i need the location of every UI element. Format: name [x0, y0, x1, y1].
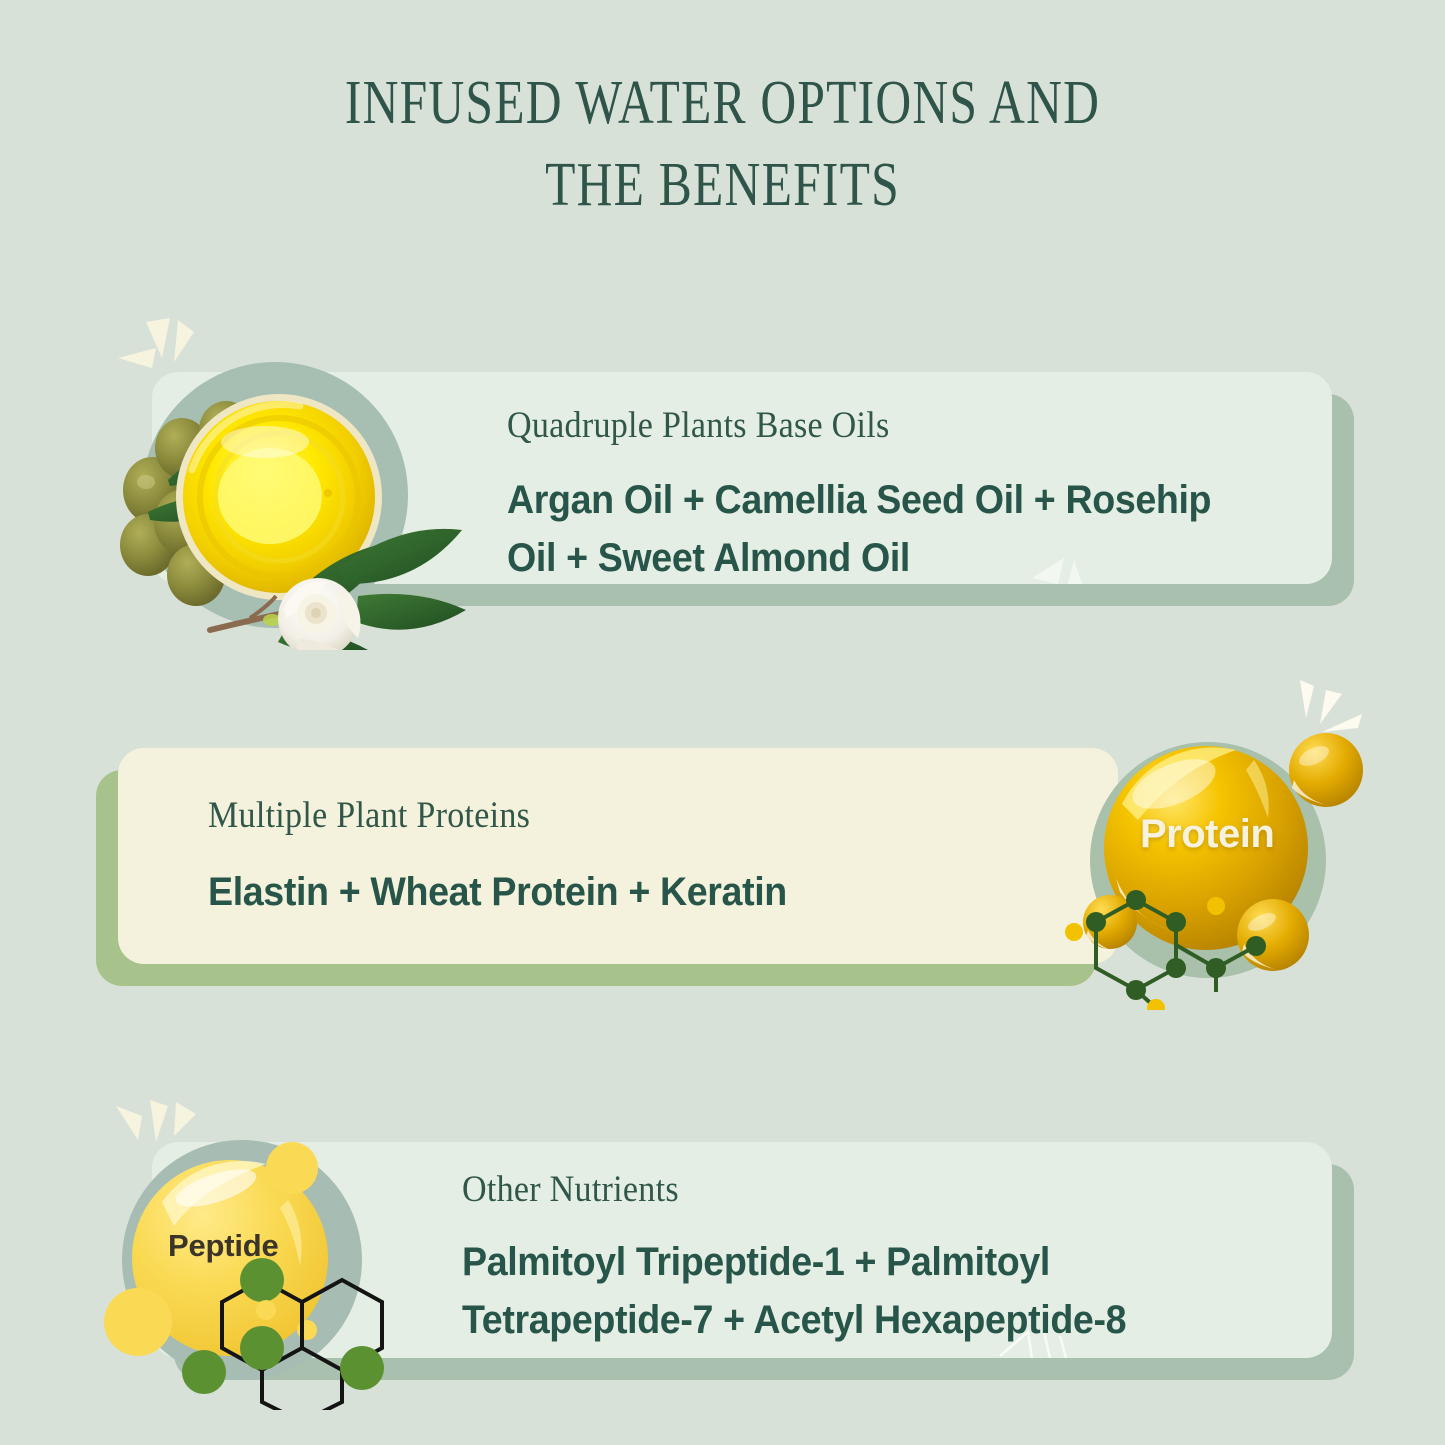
- card-body: Other Nutrients Palmitoyl Tripeptide-1 +…: [462, 1168, 1322, 1349]
- sparkle-decoration-protein: [1284, 672, 1384, 753]
- page-title-line-2: THE BENEFITS: [145, 144, 1301, 226]
- infographic-canvas: INFUSED WATER OPTIONS AND THE BENEFITS Q…: [0, 0, 1445, 1445]
- card2-kicker: Multiple Plant Proteins: [208, 794, 999, 837]
- protein-droplet-label: Protein: [1140, 812, 1274, 857]
- benefit-card-plant-proteins: Multiple Plant Proteins Elastin + Wheat …: [118, 748, 1118, 964]
- card3-kicker: Other Nutrients: [462, 1168, 1253, 1211]
- card1-headline: Argan Oil + Camellia Seed Oil + Rosehip …: [507, 471, 1259, 587]
- sparkle-decoration-top-left: [112, 306, 212, 383]
- card-body: Multiple Plant Proteins Elastin + Wheat …: [208, 794, 1068, 921]
- peptide-sphere-label: Peptide: [168, 1228, 279, 1264]
- page-title-line-1: INFUSED WATER OPTIONS AND: [145, 62, 1301, 144]
- card1-kicker: Quadruple Plants Base Oils: [507, 404, 1243, 447]
- page-title: INFUSED WATER OPTIONS AND THE BENEFITS: [145, 62, 1301, 226]
- card2-headline: Elastin + Wheat Protein + Keratin: [208, 863, 1016, 921]
- sparkle-decoration-peptide: [112, 1092, 212, 1169]
- card3-headline: Palmitoyl Tripeptide-1 + Palmitoyl Tetra…: [462, 1233, 1270, 1349]
- card-body: Quadruple Plants Base Oils Argan Oil + C…: [507, 404, 1307, 587]
